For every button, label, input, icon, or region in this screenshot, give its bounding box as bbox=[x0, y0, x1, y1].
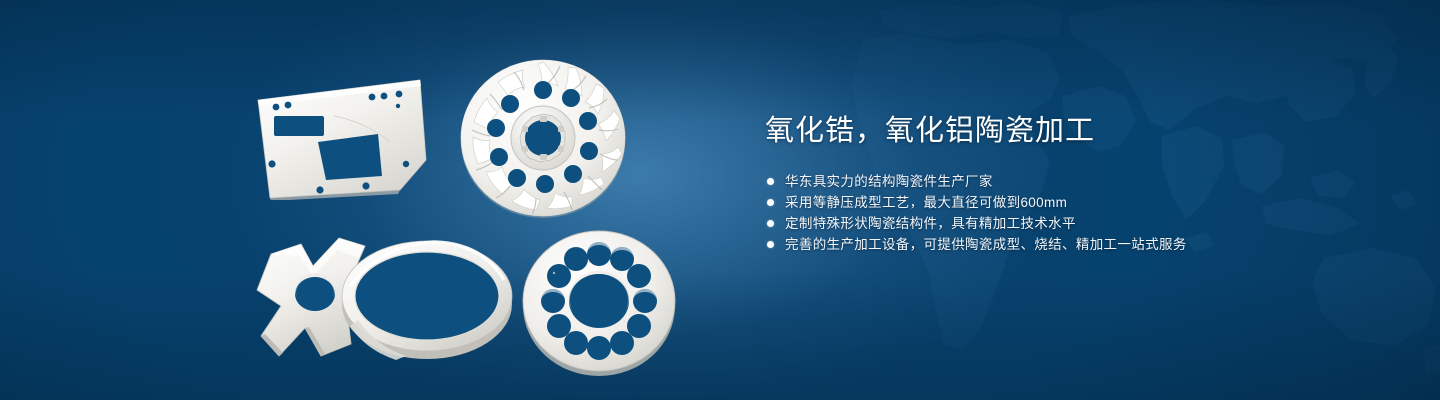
list-item: 采用等静压成型工艺，最大直径可做到600mm bbox=[767, 192, 1187, 213]
ceramic-impeller-wheel-image bbox=[452, 50, 634, 225]
list-item: 定制特殊形状陶瓷结构件，具有精加工技术水平 bbox=[767, 213, 1187, 234]
banner-text-content: 氧化锆，氧化铝陶瓷加工 华东具实力的结构陶瓷件生产厂家 采用等静压成型工艺，最大… bbox=[765, 0, 1385, 400]
feature-bullet-list: 华东具实力的结构陶瓷件生产厂家 采用等静压成型工艺，最大直径可做到600mm 定… bbox=[767, 171, 1187, 255]
product-photo-cluster bbox=[0, 0, 760, 400]
page-title: 氧化锆，氧化铝陶瓷加工 bbox=[765, 112, 1095, 150]
ceramic-perforated-disc-image bbox=[516, 226, 682, 376]
dot-bullet-icon bbox=[767, 220, 774, 227]
dot-bullet-icon bbox=[767, 241, 774, 248]
ceramic-flat-plate-image bbox=[248, 72, 438, 200]
dot-bullet-icon bbox=[767, 199, 774, 206]
ceramic-thin-ring-image bbox=[336, 234, 518, 364]
list-item-label: 采用等静压成型工艺，最大直径可做到600mm bbox=[785, 192, 1067, 213]
list-item: 完善的生产加工设备，可提供陶瓷成型、烧结、精加工一站式服务 bbox=[767, 234, 1187, 255]
list-item-label: 定制特殊形状陶瓷结构件，具有精加工技术水平 bbox=[785, 213, 1076, 234]
hero-banner: 氧化锆，氧化铝陶瓷加工 华东具实力的结构陶瓷件生产厂家 采用等静压成型工艺，最大… bbox=[0, 0, 1440, 400]
list-item: 华东具实力的结构陶瓷件生产厂家 bbox=[767, 171, 1187, 192]
list-item-label: 华东具实力的结构陶瓷件生产厂家 bbox=[785, 171, 993, 192]
dot-bullet-icon bbox=[767, 178, 774, 185]
list-item-label: 完善的生产加工设备，可提供陶瓷成型、烧结、精加工一站式服务 bbox=[785, 234, 1187, 255]
